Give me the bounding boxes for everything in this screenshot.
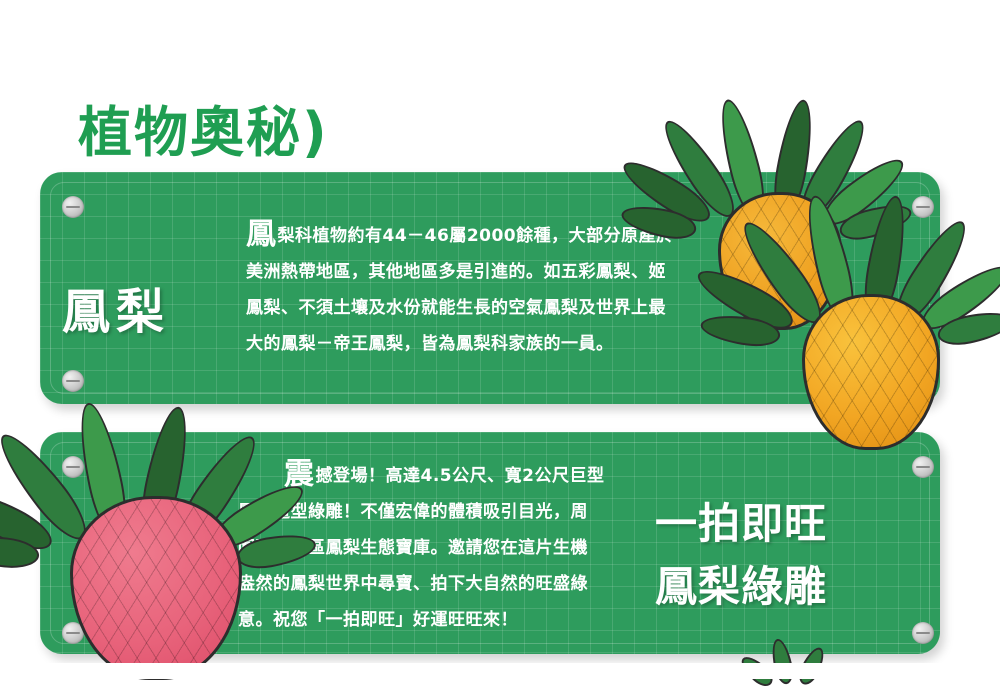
pineapple-orange-front xyxy=(766,190,976,450)
line-text: 撼登場！高達4.5公尺、寬2公尺巨型 xyxy=(316,466,605,486)
panel-a-heading: 鳳梨 xyxy=(62,272,170,342)
panel-a-body: 鳳梨科植物約有44－46屬2000餘種，大部分原產於 美洲熱帶地區，其他地區多是… xyxy=(246,218,674,362)
panel-a-body-line: 大的鳳梨－帝王鳳梨，皆為鳳梨科家族的一員。 xyxy=(246,326,674,362)
line-text: 鳳梨、不須土壤及水份就能生長的空氣鳳梨及世界上最 xyxy=(246,298,666,318)
pineapple-fruit xyxy=(802,294,940,450)
panel-a-body-line: 鳳梨、不須土壤及水份就能生長的空氣鳳梨及世界上最 xyxy=(246,290,674,326)
line-text: 意。祝您「一拍即旺」好運旺旺來！ xyxy=(238,610,518,630)
line-text: 梨科植物約有44－46屬2000餘種，大部分原產於 xyxy=(278,226,674,246)
fruit-scale-texture xyxy=(73,499,239,677)
drop-cap: 鳳 xyxy=(246,217,277,252)
panel-b-body-line: 盎然的鳳梨世界中尋寶、拍下大自然的旺盛綠 xyxy=(238,566,604,602)
line-text: 大的鳳梨－帝王鳳梨，皆為鳳梨科家族的一員。 xyxy=(246,334,614,354)
screw-icon xyxy=(62,370,84,392)
pineapple-fruit xyxy=(70,496,242,680)
panel-a-body-line: 美洲熱帶地區，其他地區多是引進的。如五彩鳳梨、姬 xyxy=(246,254,674,290)
panel-b-body-line: 意。祝您「一拍即旺」好運旺旺來！ xyxy=(238,602,604,638)
panel-a-body-line: 鳳梨科植物約有44－46屬2000餘種，大部分原產於 xyxy=(246,218,674,254)
page-title: 植物奧秘) xyxy=(78,88,329,167)
bottom-white-bar xyxy=(0,663,1000,679)
fruit-scale-texture xyxy=(805,297,937,447)
slogan-line-2: 鳳梨綠雕 xyxy=(655,553,827,614)
line-text: 盎然的鳳梨世界中尋寶、拍下大自然的旺盛綠 xyxy=(238,574,588,594)
screw-icon xyxy=(912,622,934,644)
slogan-line-1: 一拍即旺 xyxy=(655,490,827,551)
screw-icon xyxy=(62,196,84,218)
poster-canvas: 植物奧秘) 鳳梨 鳳梨科植物約有44－46屬2000餘種，大部分原產於 美洲熱帶… xyxy=(0,0,1000,679)
pineapple-pink xyxy=(26,400,276,675)
screw-icon xyxy=(912,456,934,478)
line-text: 美洲熱帶地區，其他地區多是引進的。如五彩鳳梨、姬 xyxy=(246,262,666,282)
